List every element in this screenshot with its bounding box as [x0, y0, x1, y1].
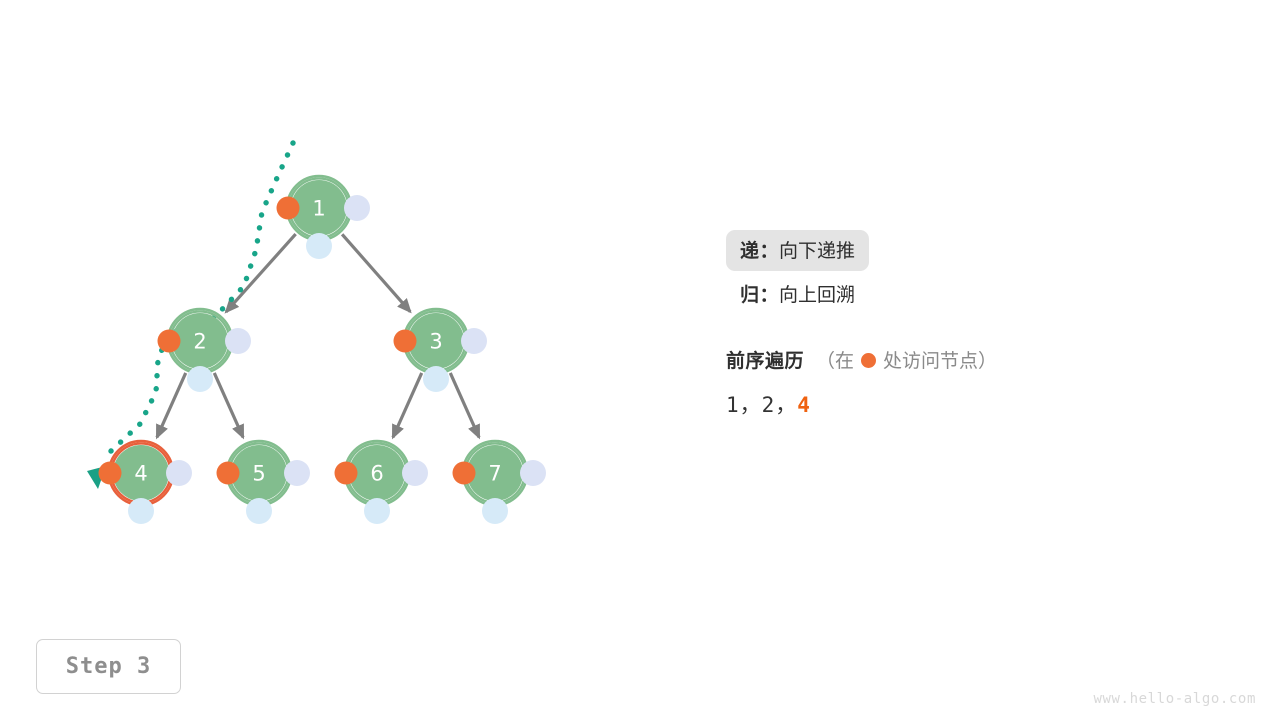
- legend-item-backtrack: 归： 向上回溯: [726, 272, 1246, 316]
- node-label: 1: [312, 197, 325, 221]
- tree-node-2[interactable]: 2: [158, 309, 252, 392]
- watermark: www.hello-algo.com: [1093, 691, 1256, 707]
- tree-edge-n3-n6: [393, 373, 422, 437]
- node-port-right: [344, 195, 370, 221]
- tree-node-6[interactable]: 6: [335, 441, 429, 524]
- diagram-stage: 1234567 递： 向下递推 归： 向上回溯 前序遍历 （在 处访问节点） 1…: [0, 0, 1280, 720]
- sequence-current: 4: [797, 393, 811, 417]
- node-label: 6: [370, 462, 383, 486]
- legend-recurse-value: 向下递推: [779, 236, 855, 263]
- node-port-right: [520, 460, 546, 486]
- node-visit-marker: [277, 197, 300, 220]
- node-port-right: [225, 328, 251, 354]
- node-visit-marker: [335, 462, 358, 485]
- node-port-bottom: [128, 498, 154, 524]
- step-badge-label: Step 3: [66, 654, 151, 679]
- node-visit-marker: [453, 462, 476, 485]
- tree-node-4[interactable]: 4: [99, 441, 193, 524]
- tree-nodes: 1234567: [99, 176, 547, 524]
- legend-chip-backtrack: 归： 向上回溯: [726, 274, 869, 315]
- traversal-note: （在 处访问节点）: [816, 346, 997, 373]
- node-port-bottom: [246, 498, 272, 524]
- legend-recurse-key: 递：: [740, 236, 779, 263]
- node-label: 5: [252, 462, 265, 486]
- tree-edge-n2-n4: [157, 373, 186, 437]
- tree-node-1[interactable]: 1: [277, 176, 371, 259]
- visit-dot-icon: [861, 353, 876, 368]
- node-label: 2: [193, 330, 206, 354]
- legend-item-recurse: 递： 向下递推: [726, 228, 1246, 272]
- tree-edge-n3-n7: [450, 373, 479, 437]
- tree-node-5[interactable]: 5: [217, 441, 311, 524]
- tree-edge-n1-n3: [342, 234, 410, 311]
- node-visit-marker: [394, 330, 417, 353]
- node-visit-marker: [217, 462, 240, 485]
- node-visit-marker: [158, 330, 181, 353]
- step-badge: Step 3: [36, 639, 181, 694]
- tree-node-7[interactable]: 7: [453, 441, 547, 524]
- node-port-bottom: [482, 498, 508, 524]
- tree-edge-n2-n5: [214, 373, 243, 437]
- node-port-right: [284, 460, 310, 486]
- traversal-title: 前序遍历: [726, 346, 804, 373]
- traversal-sequence: 1，2，4: [726, 389, 1246, 419]
- watermark-text: www.hello-algo.com: [1093, 691, 1256, 707]
- node-port-bottom: [423, 366, 449, 392]
- tree-edge-n1-n2: [226, 234, 296, 312]
- node-port-bottom: [187, 366, 213, 392]
- node-port-bottom: [306, 233, 332, 259]
- node-label: 4: [134, 462, 147, 486]
- legend-backtrack-value: 向上回溯: [779, 280, 855, 307]
- tree-node-3[interactable]: 3: [394, 309, 488, 392]
- traversal-heading: 前序遍历 （在 处访问节点）: [726, 346, 1246, 373]
- node-label: 3: [429, 330, 442, 354]
- node-port-bottom: [364, 498, 390, 524]
- legend-panel: 递： 向下递推 归： 向上回溯 前序遍历 （在 处访问节点） 1，2，4: [726, 228, 1246, 419]
- node-visit-marker: [99, 462, 122, 485]
- sequence-visited: 1，2，: [726, 393, 797, 417]
- legend-chip-recurse: 递： 向下递推: [726, 230, 869, 271]
- legend-backtrack-key: 归：: [740, 280, 779, 307]
- node-port-right: [166, 460, 192, 486]
- node-port-right: [402, 460, 428, 486]
- traversal-note-before: （在: [816, 346, 854, 373]
- node-port-right: [461, 328, 487, 354]
- traversal-note-after: 处访问节点）: [883, 346, 997, 373]
- recursion-trail-path: [110, 143, 293, 452]
- node-label: 7: [488, 462, 501, 486]
